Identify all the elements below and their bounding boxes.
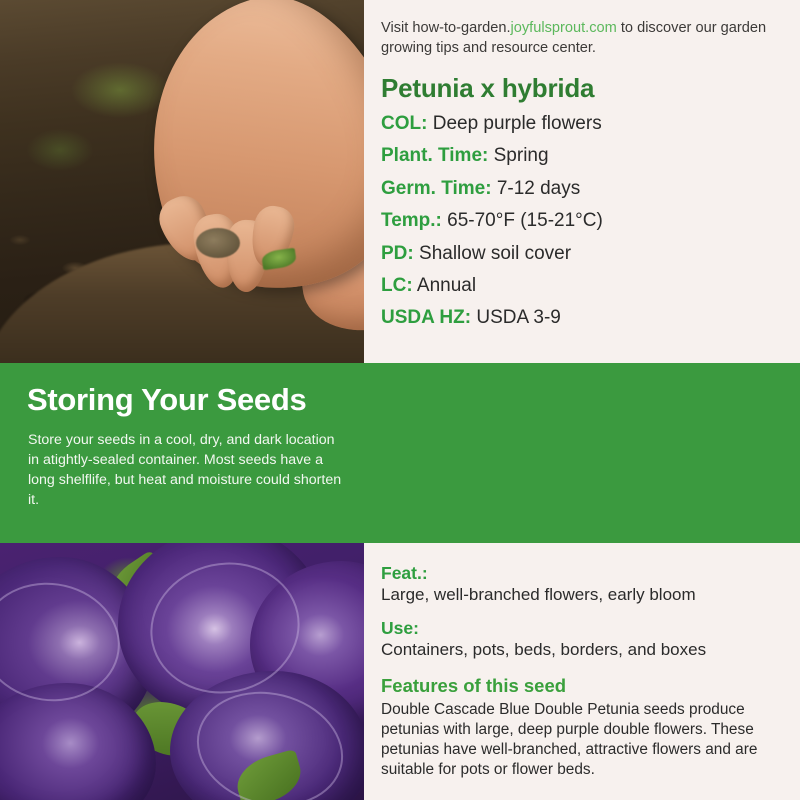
spec-value: Annual (417, 275, 476, 296)
details-panel: Feat.: Large, well-branched flowers, ear… (364, 543, 800, 800)
storing-body: Store your seeds in a cool, dry, and dar… (28, 430, 346, 511)
spec-label: COL: (381, 113, 427, 134)
seed-packet-infographic: Visit how-to-garden.joyfulsprout.com to … (0, 0, 800, 800)
spec-row: Plant. Time: Spring (381, 145, 793, 177)
storing-seeds-band: Storing Your Seeds Store your seeds in a… (0, 363, 800, 543)
spec-label: USDA HZ: (381, 307, 471, 328)
feat-value: Large, well-branched flowers, early bloo… (381, 584, 791, 605)
spec-label: Temp.: (381, 210, 442, 231)
spec-label: PD: (381, 243, 414, 264)
spec-value: Deep purple flowers (433, 113, 602, 134)
features-body: Double Cascade Blue Double Petunia seeds… (381, 700, 791, 780)
spec-label: LC: (381, 275, 413, 296)
features-heading: Features of this seed (381, 674, 791, 698)
visit-website-line: Visit how-to-garden.joyfulsprout.com to … (381, 19, 786, 59)
specifications-panel: Visit how-to-garden.joyfulsprout.com to … (364, 0, 800, 363)
spec-label: Plant. Time: (381, 145, 488, 166)
spec-value: Spring (494, 145, 549, 166)
storing-title: Storing Your Seeds (27, 382, 306, 418)
spec-list: COL: Deep purple flowers Plant. Time: Sp… (381, 113, 793, 340)
hands-sowing-seeds-photo (0, 0, 364, 363)
visit-prefix: Visit how-to-garden. (381, 20, 511, 36)
purple-petunia-photo (0, 543, 364, 800)
spec-row: USDA HZ: USDA 3-9 (381, 307, 793, 339)
seeds-in-hand (196, 228, 240, 258)
spec-value: Shallow soil cover (419, 243, 571, 264)
page-title: Petunia x hybrida (381, 73, 594, 104)
spec-row: PD: Shallow soil cover (381, 243, 793, 275)
spec-row: LC: Annual (381, 275, 793, 307)
spec-row: Germ. Time: 7-12 days (381, 178, 793, 210)
use-value: Containers, pots, beds, borders, and box… (381, 639, 791, 660)
brand-link[interactable]: joyfulsprout.com (511, 20, 617, 36)
feat-label: Feat.: (381, 563, 791, 584)
spec-value: 65-70°F (15-21°C) (447, 210, 603, 231)
spec-label: Germ. Time: (381, 178, 492, 199)
spec-value: 7-12 days (497, 178, 580, 199)
use-label: Use: (381, 618, 791, 639)
spec-value: USDA 3-9 (476, 307, 560, 328)
spec-row: COL: Deep purple flowers (381, 113, 793, 145)
spec-row: Temp.: 65-70°F (15-21°C) (381, 210, 793, 242)
